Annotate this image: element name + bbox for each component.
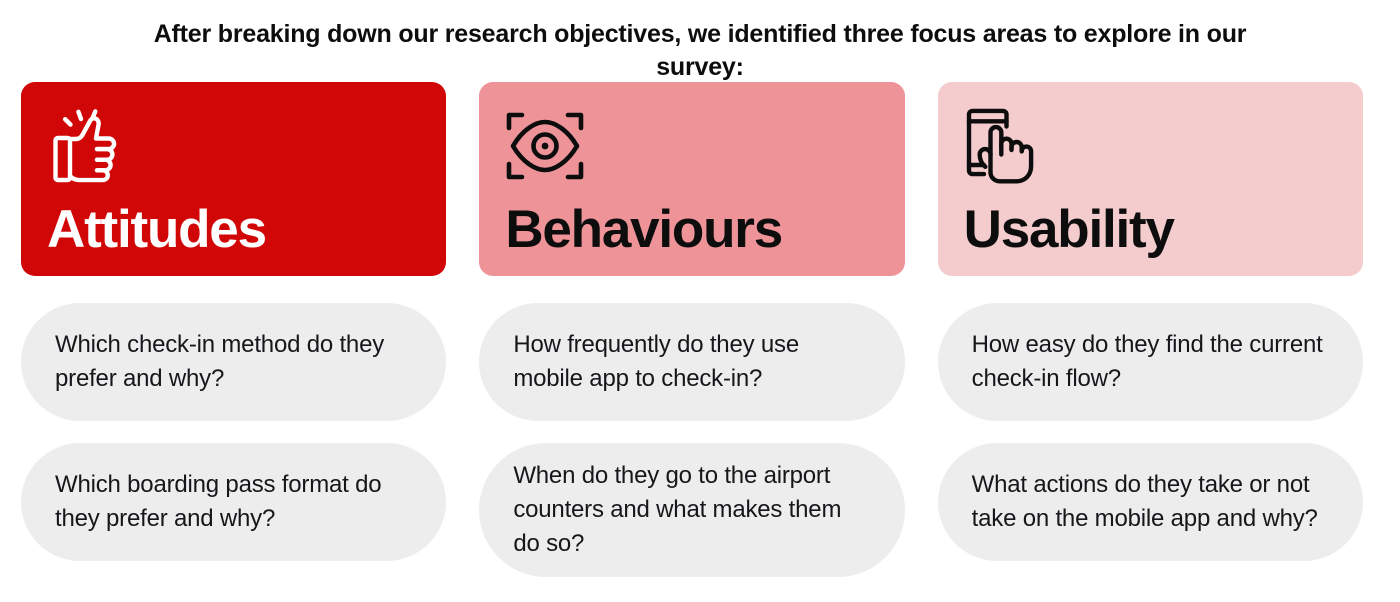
category-title: Behaviours — [505, 203, 782, 256]
question-text: Which boarding pass format do they prefe… — [55, 468, 412, 536]
focus-areas-slide: After breaking down our research objecti… — [0, 0, 1400, 602]
focus-area-column-usability: Usability How easy do they find the curr… — [938, 82, 1363, 577]
question-pill[interactable]: Which boarding pass format do they prefe… — [21, 443, 446, 561]
question-pill[interactable]: How easy do they find the current check-… — [938, 303, 1363, 421]
category-card-attitudes[interactable]: Attitudes — [21, 82, 446, 276]
question-text: What actions do they take or not take on… — [972, 468, 1329, 536]
eye-scan-icon — [505, 108, 585, 189]
question-text: How easy do they find the current check-… — [972, 328, 1329, 396]
question-text: How frequently do they use mobile app to… — [513, 328, 870, 396]
question-text: Which check-in method do they prefer and… — [55, 328, 412, 396]
category-card-behaviours[interactable]: Behaviours — [479, 82, 904, 276]
question-pill[interactable]: Which check-in method do they prefer and… — [21, 303, 446, 421]
question-text: When do they go to the airport counters … — [513, 459, 870, 561]
category-title: Attitudes — [47, 203, 266, 256]
focus-area-column-behaviours: Behaviours How frequently do they use mo… — [479, 82, 904, 577]
question-pill[interactable]: When do they go to the airport counters … — [479, 443, 904, 577]
question-pill[interactable]: What actions do they take or not take on… — [938, 443, 1363, 561]
phone-tap-icon — [964, 108, 1034, 193]
category-card-usability[interactable]: Usability — [938, 82, 1363, 276]
question-pill[interactable]: How frequently do they use mobile app to… — [479, 303, 904, 421]
category-title: Usability — [964, 203, 1174, 256]
page-title: After breaking down our research objecti… — [120, 18, 1280, 85]
focus-area-column-attitudes: Attitudes Which check-in method do they … — [21, 82, 446, 577]
focus-area-columns: Attitudes Which check-in method do they … — [21, 82, 1363, 577]
thumbs-up-icon — [47, 108, 125, 191]
